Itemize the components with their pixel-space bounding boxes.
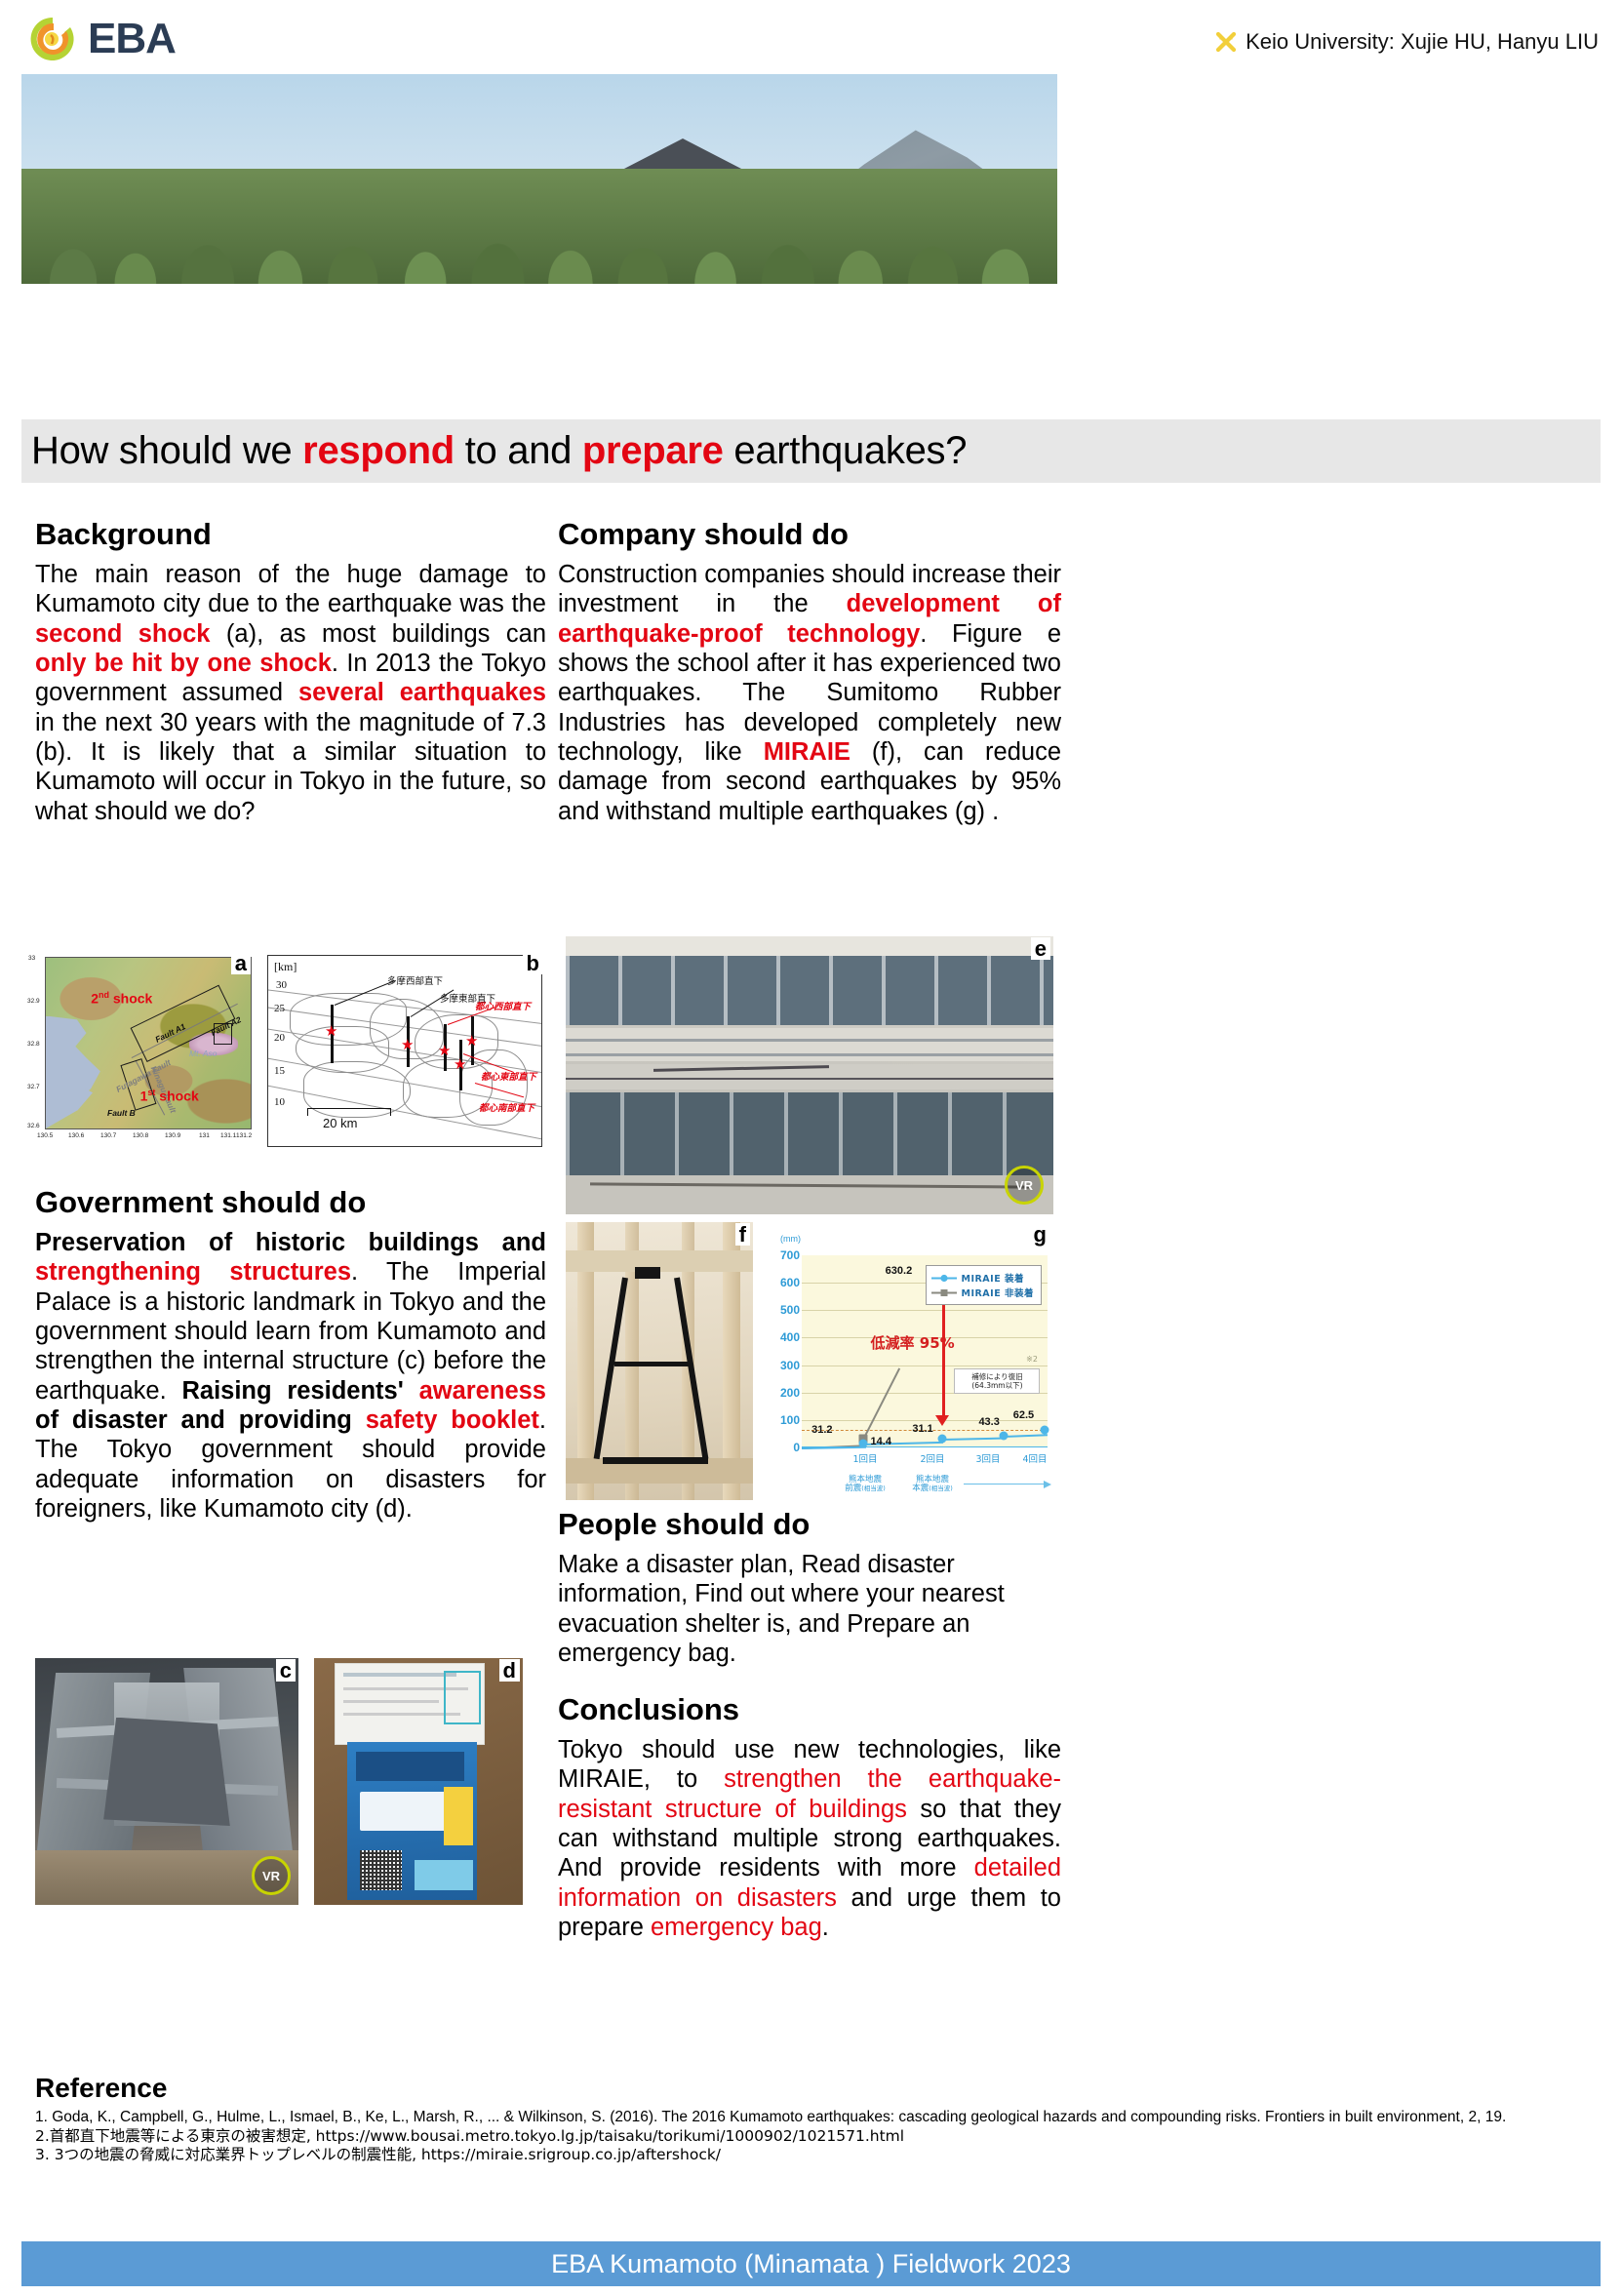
label-1st-shock: 1st shock [140, 1088, 199, 1104]
ytick-700: 700 [780, 1248, 800, 1262]
section-heading-conclusions: Conclusions [558, 1692, 1061, 1727]
unit-km: [km] [274, 960, 297, 974]
figure-label-d: d [499, 1659, 520, 1682]
text-run-5: several earthquakes [298, 679, 546, 706]
page-title: How should we respond to and prepare ear… [31, 429, 967, 473]
left-column: Background The main reason of the huge d… [35, 517, 546, 826]
conclusions-block: Conclusions Tokyo should use new technol… [558, 1692, 1061, 1942]
poster-header: EBA Keio University: Xujie HU, Hanyu LIU [0, 0, 1622, 76]
eba-swirl-icon [27, 14, 78, 64]
label-toshin-tobu: 都心東部直下 [481, 1069, 536, 1083]
ytick-0: 0 [793, 1441, 800, 1454]
depth-tick-20: 20 [274, 1032, 285, 1044]
legend-label-nonequipped: MIRAIE 非装着 [962, 1286, 1035, 1299]
text-run-4: awareness [419, 1377, 546, 1405]
text-run-1: second shock [35, 620, 210, 648]
data-label-31-2: 31.2 [811, 1424, 832, 1436]
xtick-3: 3回目 [975, 1451, 1000, 1465]
xtick-1: 1回目 [852, 1451, 877, 1465]
vr-badge-c[interactable]: VR [252, 1856, 291, 1895]
reference-item-3: 3. 3つの地震の脅威に対応業界トップレベルの制震性能, https://mir… [35, 2146, 1596, 2165]
text-run-2: (a), as most buildings can [210, 620, 546, 648]
ytick-300: 300 [780, 1359, 800, 1372]
xsub-2: 熊本地震本震(相当波) [912, 1476, 953, 1494]
data-label-43-3: 43.3 [978, 1416, 999, 1428]
xtick-4: 4回目 [1022, 1451, 1047, 1465]
title-highlight-respond: respond [302, 429, 455, 472]
section-text-people: Make a disaster plan, Read disaster info… [558, 1550, 1061, 1668]
author-text: Keio University: Xujie HU, Hanyu LIU [1246, 29, 1599, 55]
poster-title-bar: How should we respond to and prepare ear… [21, 419, 1601, 483]
text-run-0: Preservation of historic buildings and [35, 1229, 546, 1256]
section-text-company: Construction companies should increase t… [558, 560, 1061, 826]
figure-c-internal-structure-photo: c VR [35, 1658, 298, 1905]
data-label-31-1: 31.1 [912, 1423, 932, 1435]
ytick-600: 600 [780, 1276, 800, 1289]
label-toshin-seibu: 都心西部直下 [475, 999, 531, 1012]
figure-label-a: a [231, 952, 251, 974]
eba-logo-text: EBA [88, 14, 176, 64]
figure-b-tokyo-epicenter-map: b 30 25 20 15 10 [km] ★ ★ ★ ★ ★ 多摩西部 [261, 951, 546, 1151]
data-label-630-2: 630.2 [886, 1265, 913, 1277]
text-run-5: emergency bag [651, 1914, 822, 1941]
label-2nd-shock: 2nd shock [91, 990, 152, 1007]
section-heading-people: People should do [558, 1507, 1061, 1542]
map-b-plot-area: 30 25 20 15 10 [km] ★ ★ ★ ★ ★ 多摩西部直下 多摩東… [267, 955, 542, 1147]
label-tama-seibu: 多摩西部直下 [387, 973, 443, 987]
figure-a-kumamoto-fault-map: a Fault A1 Fault A2 Fault B Futagawa Fau… [27, 951, 254, 1151]
legend-item-nonequipped: MIRAIE 非装着 [931, 1286, 1035, 1299]
ytick-500: 500 [780, 1303, 800, 1317]
repair-note-box: 補修により復旧 (64.3mm以下) [954, 1368, 1040, 1394]
text-run-6: in the next 30 years with the magnitude … [35, 709, 546, 825]
time-arrow-head [1044, 1481, 1051, 1488]
right-column: Company should do Construction companies… [558, 517, 1061, 826]
footnote-mark: ※2 [1026, 1355, 1038, 1364]
text-run-3: Raising residents' [181, 1377, 418, 1405]
title-highlight-prepare: prepare [582, 429, 724, 472]
chart-ylabel: (mm) [780, 1234, 801, 1244]
ytick-100: 100 [780, 1413, 800, 1427]
poster-footer: EBA Kumamoto (Minamata ) Fieldwork 2023 [21, 2241, 1601, 2286]
section-text-government: Preservation of historic buildings and s… [35, 1228, 546, 1524]
ytick-200: 200 [780, 1386, 800, 1400]
text-run-6: . [822, 1914, 829, 1941]
text-run-1: strengthening structures [35, 1258, 351, 1286]
repair-note-line2: (64.3mm以下) [971, 1381, 1022, 1390]
map-a-plot-area: Fault A1 Fault A2 Fault B Futagawa Fault… [45, 957, 252, 1129]
text-run-3: MIRAIE [764, 738, 851, 766]
vr-badge-e[interactable]: VR [1005, 1166, 1044, 1205]
repair-note-line1: 補修により復旧 [971, 1372, 1022, 1381]
section-heading-background: Background [35, 517, 546, 552]
government-block: Government should do Preservation of his… [35, 1185, 546, 1524]
point-equipped-2 [937, 1435, 946, 1444]
chart-legend: MIRAIE 装着 MIRAIE 非装着 [926, 1265, 1043, 1305]
xsub-1: 熊本地震前震(相当波) [845, 1476, 886, 1494]
section-text-conclusions: Tokyo should use new technologies, like … [558, 1735, 1061, 1942]
section-text-background: The main reason of the huge damage to Ku… [35, 560, 546, 826]
text-run-5: of disaster and providing [35, 1406, 366, 1434]
data-label-62-5: 62.5 [1013, 1409, 1034, 1421]
reference-heading: Reference [35, 2073, 1596, 2104]
figure-f-miraie-damper-photo: f [566, 1222, 753, 1500]
ytick-400: 400 [780, 1330, 800, 1344]
author-line: Keio University: Xujie HU, Hanyu LIU [1215, 29, 1599, 55]
footer-text: EBA Kumamoto (Minamata ) Fieldwork 2023 [551, 2249, 1071, 2279]
reduction-rate-annotation: 低減率 95% [871, 1332, 955, 1353]
chart-yaxis: 700 600 500 400 300 200 100 0 [757, 1255, 800, 1447]
depth-tick-30: 30 [276, 979, 287, 991]
depth-tick-25: 25 [274, 1003, 285, 1014]
eba-logo: EBA [27, 14, 176, 64]
legend-label-equipped: MIRAIE 装着 [962, 1271, 1025, 1285]
figure-label-c: c [276, 1659, 296, 1682]
people-block: People should do Make a disaster plan, R… [558, 1507, 1061, 1668]
text-run-0: The main reason of the huge damage to Ku… [35, 561, 546, 617]
title-part-2: to and [455, 429, 582, 472]
section-heading-company: Company should do [558, 517, 1061, 552]
reduction-arrow-head [935, 1415, 949, 1426]
figure-label-g: g [1030, 1223, 1050, 1246]
title-part-3: earthquakes? [724, 429, 968, 472]
banner-photo-kumamoto-castle [21, 74, 1057, 284]
scale-label: 20 km [323, 1116, 357, 1130]
reference-block: Reference 1. Goda, K., Campbell, G., Hul… [35, 2073, 1596, 2165]
legend-item-equipped: MIRAIE 装着 [931, 1271, 1035, 1285]
reference-item-2: 2.首都直下地震等による東京の被害想定, https://www.bousai.… [35, 2127, 1596, 2147]
section-heading-government: Government should do [35, 1185, 546, 1220]
title-part-1: How should we [31, 429, 302, 472]
text-run-6: safety booklet [366, 1406, 539, 1434]
xtick-2: 2回目 [920, 1451, 944, 1465]
figure-g-miraie-displacement-chart: g (mm) 700 600 500 400 300 200 100 0 [757, 1222, 1053, 1500]
figure-label-f: f [735, 1223, 750, 1246]
keio-pen-icon [1215, 31, 1237, 53]
text-run-0: Make a disaster plan, Read disaster info… [558, 1551, 1005, 1667]
figure-label-e: e [1031, 937, 1050, 960]
point-equipped-3 [999, 1431, 1008, 1440]
figure-e-damaged-school-photo: e VR [566, 936, 1053, 1214]
label-toshin-nanbu: 都心南部直下 [479, 1100, 534, 1114]
figure-label-b: b [523, 952, 543, 974]
chart-plot-area: 31.2 14.4 630.2 31.1 43.3 62.5 低減率 95% ※… [802, 1255, 1048, 1447]
reference-item-1: 1. Goda, K., Campbell, G., Hulme, L., Is… [35, 2108, 1596, 2127]
depth-tick-15: 15 [274, 1065, 285, 1077]
depth-tick-10: 10 [274, 1096, 285, 1108]
figure-d-safety-booklet-photo: d [314, 1658, 523, 1905]
point-equipped-4 [1041, 1426, 1049, 1435]
text-run-3: only be hit by one shock [35, 650, 332, 677]
time-arrow [964, 1484, 1046, 1485]
chart-canvas: g (mm) 700 600 500 400 300 200 100 0 [757, 1222, 1053, 1500]
